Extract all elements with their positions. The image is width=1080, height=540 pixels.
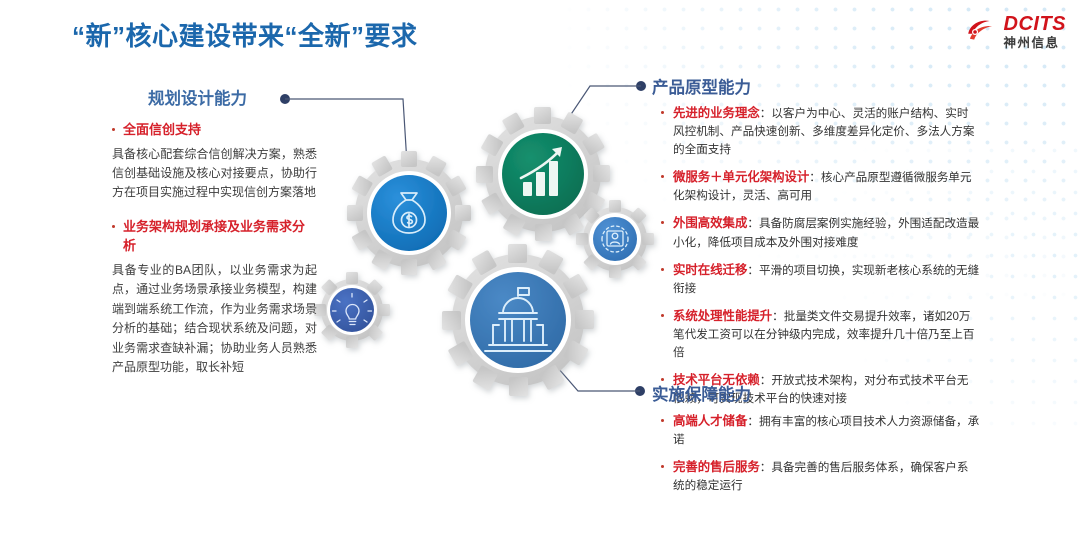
bullet-dot-icon <box>661 221 664 224</box>
left-bullet-title: 业务架构规划承接及业务需求分析 <box>123 217 317 256</box>
bullet-dot-icon <box>661 419 664 422</box>
right-bullet-item: 完善的售后服务：具备完善的售后服务体系，确保客户系统的稳定运行 <box>648 458 980 495</box>
right-bullet-key: 高端人才储备 <box>673 414 747 428</box>
bullet-dot-icon <box>112 128 115 131</box>
slide-canvas: “新”核心建设带来“全新”要求 DCITS 神州信息 <box>0 0 1080 540</box>
gear-bank-building <box>442 244 594 396</box>
right-bullet-key: 系统处理性能提升 <box>673 309 772 323</box>
right-bullet-item: 外围高效集成：具备防腐层案例实施经验，外围适配改造最小化，降低项目成本及外围对接… <box>648 214 980 251</box>
bullet-dot-icon <box>661 268 664 271</box>
right-bullet-key: 实时在线迁移 <box>673 263 747 277</box>
right-bullet-item: 微服务＋单元化架构设计：核心产品原型遵循微服务单元化架构设计，灵活、高可用 <box>648 168 980 205</box>
right-content-column-implementation: 高端人才储备：拥有丰富的核心项目技术人力资源储备，承诺 完善的售后服务：具备完善… <box>648 412 980 504</box>
gear-lightbulb <box>314 272 390 348</box>
section-heading-product-prototype: 产品原型能力 <box>652 74 751 98</box>
right-bullet-key: 外围高效集成 <box>673 216 747 230</box>
right-bullet-key: 完善的售后服务 <box>673 460 760 474</box>
bullet-dot-icon <box>661 465 664 468</box>
left-bullet-body: 具备专业的BA团队，以业务需求为起点，通过业务场景承接业务模型，构建端到端系统工… <box>112 261 317 378</box>
right-bullet-item: 实时在线迁移：平滑的项目切换，实现新老核心系统的无缝衔接 <box>648 261 980 298</box>
bullet-dot-icon <box>112 225 115 228</box>
right-bullet-item: 系统处理性能提升：批量类文件交易提升效率，诸如20万笔代发工资可以在分钟级内完成… <box>648 307 980 362</box>
right-content-column-product: 先进的业务理念：以客户为中心、灵活的账户结构、实时风控机制、产品快速创新、多维度… <box>648 104 980 417</box>
left-bullet-item-0: 全面信创支持 具备核心配套综合信创解决方案，熟悉信创基础设施及核心对接要点，协助… <box>112 120 317 203</box>
section-heading-planning: 规划设计能力 <box>148 85 247 109</box>
left-content-column: 全面信创支持 具备核心配套综合信创解决方案，熟悉信创基础设施及核心对接要点，协助… <box>112 120 317 391</box>
bullet-dot-icon <box>661 175 664 178</box>
bullet-dot-icon <box>661 314 664 317</box>
left-bullet-body: 具备核心配套综合信创解决方案，熟悉信创基础设施及核心对接要点，协助行方在项目实施… <box>112 145 317 203</box>
left-bullet-title: 全面信创支持 <box>123 120 201 140</box>
right-bullet-key: 微服务＋单元化架构设计 <box>673 170 809 184</box>
left-bullet-item-1: 业务架构规划承接及业务需求分析 具备专业的BA团队，以业务需求为起点，通过业务场… <box>112 217 317 378</box>
right-bullet-item: 先进的业务理念：以客户为中心、灵活的账户结构、实时风控机制、产品快速创新、多维度… <box>648 104 980 159</box>
bullet-dot-icon <box>661 111 664 114</box>
gear-person-badge <box>576 200 654 278</box>
section-heading-implementation-guarantee: 实施保障能力 <box>652 381 751 405</box>
right-bullet-key: 先进的业务理念 <box>673 106 760 120</box>
gear-money-bag <box>347 151 471 275</box>
right-bullet-item: 高端人才储备：拥有丰富的核心项目技术人力资源储备，承诺 <box>648 412 980 449</box>
